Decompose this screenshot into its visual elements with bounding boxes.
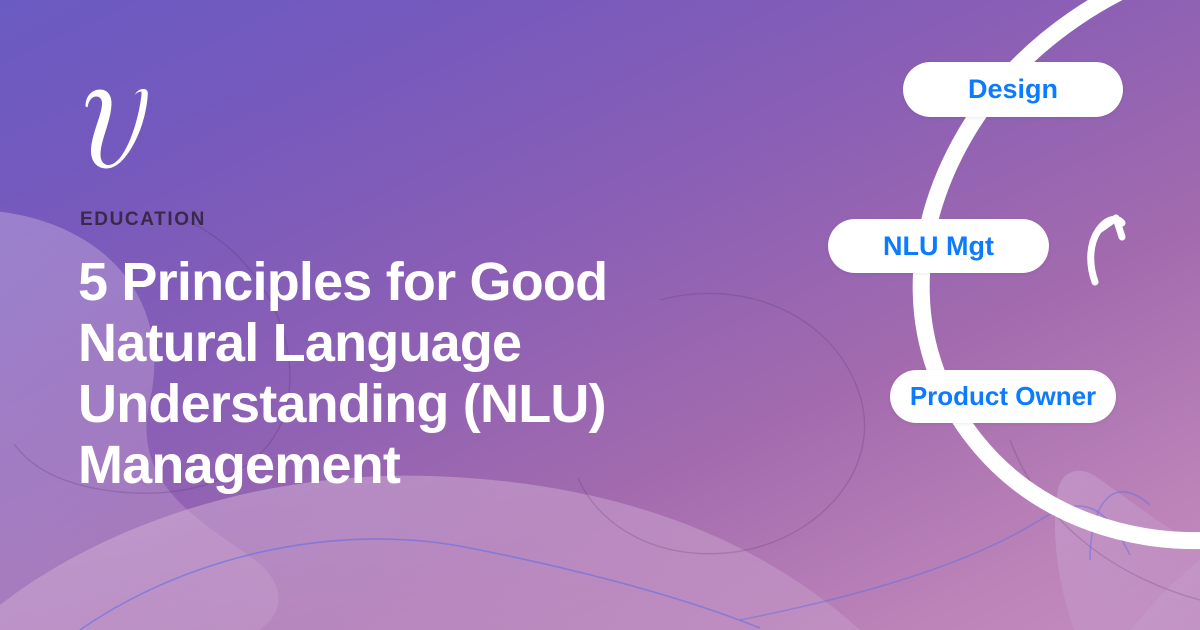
social-share-card: EDUCATION 5 Principles for Good Natural … [0, 0, 1200, 630]
pill-product-owner-label: Product Owner [910, 381, 1096, 412]
pill-nlu-mgt[interactable]: NLU Mgt [828, 219, 1049, 273]
card-content: EDUCATION 5 Principles for Good Natural … [78, 0, 738, 630]
pill-design-label: Design [968, 74, 1058, 105]
title-line-1: 5 Principles for Good [78, 252, 718, 313]
category-eyebrow: EDUCATION [80, 210, 206, 229]
page-title: 5 Principles for Good Natural Language U… [78, 252, 718, 496]
pill-product-owner[interactable]: Product Owner [890, 370, 1116, 423]
title-line-4: Management [78, 435, 718, 496]
pill-design[interactable]: Design [903, 62, 1123, 117]
title-line-2: Natural Language [78, 313, 718, 374]
title-line-3: Understanding (NLU) [78, 374, 718, 435]
voiceflow-v-logo-icon [78, 88, 148, 170]
pill-nlu-mgt-label: NLU Mgt [883, 231, 994, 262]
